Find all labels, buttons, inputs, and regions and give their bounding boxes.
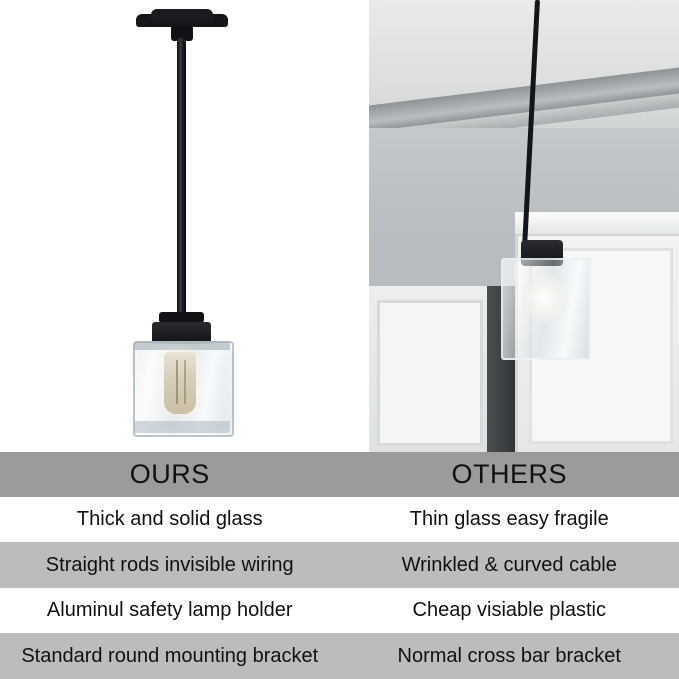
cell-others-4: Normal cross bar bracket xyxy=(340,633,679,679)
cell-ours-1: Thick and solid glass xyxy=(0,497,340,542)
right-cabinet-crown-molding xyxy=(515,212,679,236)
light-bulb xyxy=(164,352,196,414)
kitchen-photo-others xyxy=(369,0,679,452)
cell-others-3: Cheap visiable plastic xyxy=(340,588,679,633)
header-ours: OURS xyxy=(0,452,340,497)
comparison-infographic: OURS OTHERS Thick and solid glass Thin g… xyxy=(0,0,679,679)
table-row: Standard round mounting bracket Normal c… xyxy=(0,633,679,679)
bulb-filament xyxy=(176,360,178,404)
image-strip xyxy=(0,0,679,452)
bulb-filament-secondary xyxy=(184,360,186,404)
glass-shade-bottom-rim xyxy=(133,421,230,433)
table-row: Aluminul safety lamp holder Cheap visiab… xyxy=(0,588,679,633)
lit-bulb-glow xyxy=(521,272,567,324)
cell-ours-4: Standard round mounting bracket xyxy=(0,633,340,679)
cell-others-2: Wrinkled & curved cable xyxy=(340,542,679,588)
header-others: OTHERS xyxy=(340,452,679,497)
table-row: Thick and solid glass Thin glass easy fr… xyxy=(0,497,679,542)
straight-rod xyxy=(177,38,186,318)
cell-others-1: Thin glass easy fragile xyxy=(340,497,679,542)
table-row: Straight rods invisible wiring Wrinkled … xyxy=(0,542,679,588)
cell-ours-2: Straight rods invisible wiring xyxy=(0,542,340,588)
glass-shade-top-rim xyxy=(133,341,230,350)
cell-ours-3: Aluminul safety lamp holder xyxy=(0,588,340,633)
comparison-table: OURS OTHERS Thick and solid glass Thin g… xyxy=(0,452,679,679)
product-photo-ours xyxy=(0,0,369,452)
left-cabinet-door-panel xyxy=(377,300,483,446)
table-header-row: OURS OTHERS xyxy=(0,452,679,497)
